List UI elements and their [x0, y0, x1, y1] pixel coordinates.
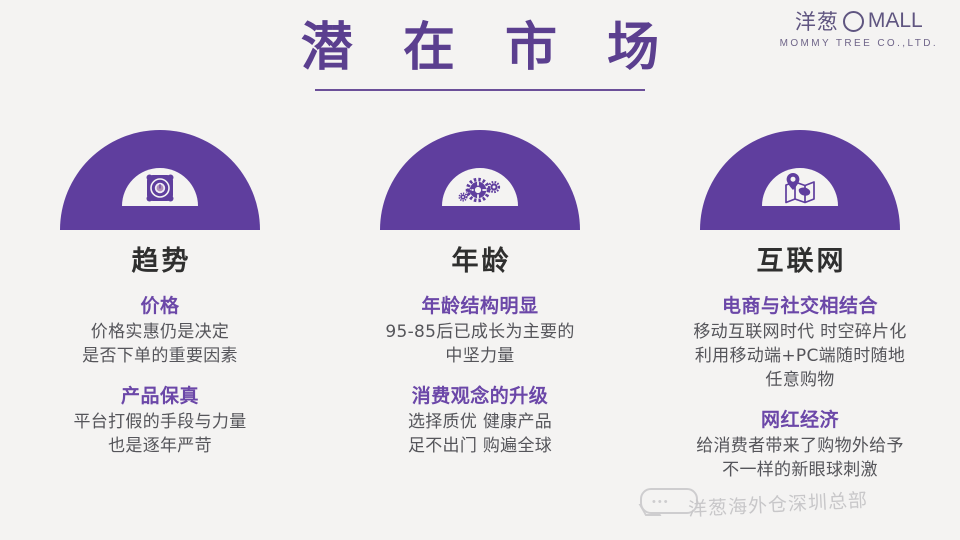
watermark-dots: ••• [652, 496, 670, 508]
block-line: 不一样的新眼球刺激 [645, 458, 955, 482]
block-line: 是否下单的重要因素 [5, 344, 315, 368]
content-block: 产品保真 平台打假的手段与力量 也是逐年严苛 [5, 384, 315, 458]
columns-container: 趋势 价格 价格实惠仍是决定 是否下单的重要因素 产品保真 平台打假的手段与力量… [0, 130, 960, 482]
block-line: 中坚力量 [325, 344, 635, 368]
block-line: 任意购物 [645, 368, 955, 392]
title-section: 潜 在 市 场 [0, 16, 960, 91]
block-line: 平台打假的手段与力量 [5, 410, 315, 434]
content-block: 网红经济 给消费者带来了购物外给予 不一样的新眼球刺激 [645, 408, 955, 482]
block-line: 足不出门 购遍全球 [325, 434, 635, 458]
block-heading: 产品保真 [5, 384, 315, 410]
block-line: 也是逐年严苛 [5, 434, 315, 458]
block-line: 给消费者带来了购物外给予 [645, 434, 955, 458]
map-pin-icon [762, 168, 838, 206]
content-block: 电商与社交相结合 移动互联网时代 时空碎片化 利用移动端+PC端随时随地 任意购… [645, 294, 955, 392]
block-heading: 价格 [5, 294, 315, 320]
column-title: 趋势 [5, 239, 315, 278]
content-block: 消费观念的升级 选择质优 健康产品 足不出门 购遍全球 [325, 384, 635, 458]
title-underline [315, 89, 645, 91]
arch-graphic [380, 130, 580, 230]
block-heading: 消费观念的升级 [325, 384, 635, 410]
block-heading: 网红经济 [645, 408, 955, 434]
compass-gauge-icon [122, 168, 198, 206]
content-block: 价格 价格实惠仍是决定 是否下单的重要因素 [5, 294, 315, 368]
column-title: 年龄 [325, 239, 635, 278]
watermark-text: 洋葱海外仓深圳总部 [687, 485, 868, 521]
block-line: 选择质优 健康产品 [325, 410, 635, 434]
arch-graphic [60, 130, 260, 230]
block-heading: 年龄结构明显 [325, 294, 635, 320]
column-trends: 趋势 价格 价格实惠仍是决定 是否下单的重要因素 产品保真 平台打假的手段与力量… [5, 130, 315, 458]
arch-graphic [700, 130, 900, 230]
block-heading: 电商与社交相结合 [645, 294, 955, 320]
speech-bubble-tail-icon [639, 504, 662, 516]
column-internet: 互联网 电商与社交相结合 移动互联网时代 时空碎片化 利用移动端+PC端随时随地… [645, 130, 955, 482]
column-age: 年龄 年龄结构明显 95-85后已成长为主要的 中坚力量 消费观念的升级 选择质… [325, 130, 635, 458]
block-line: 利用移动端+PC端随时随地 [645, 344, 955, 368]
block-line: 移动互联网时代 时空碎片化 [645, 320, 955, 344]
block-line: 95-85后已成长为主要的 [325, 320, 635, 344]
speech-bubble-icon [640, 488, 698, 514]
block-line: 价格实惠仍是决定 [5, 320, 315, 344]
page-title: 潜 在 市 场 [0, 16, 960, 81]
gears-icon [442, 168, 518, 206]
content-block: 年龄结构明显 95-85后已成长为主要的 中坚力量 [325, 294, 635, 368]
column-title: 互联网 [645, 239, 955, 278]
